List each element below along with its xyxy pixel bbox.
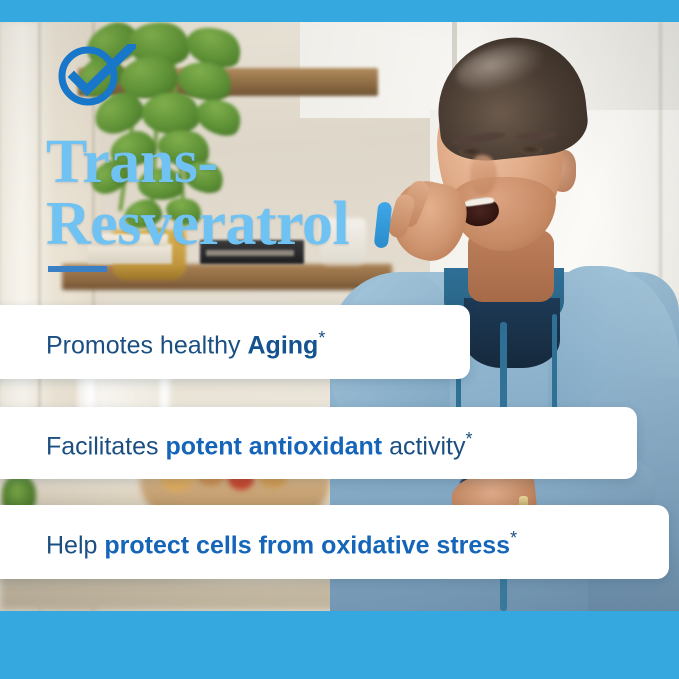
claim-banner-aging: Promotes healthy Aging*: [0, 305, 470, 379]
blue-circle-checkmark-logo: [52, 44, 136, 106]
claim-banner-oxidative-stress: Help protect cells from oxidative stress…: [0, 505, 669, 579]
claim-asterisk: *: [466, 429, 473, 449]
claim-bold: protect cells from oxidative stress: [104, 532, 510, 560]
claim-lead: Promotes healthy: [46, 332, 248, 360]
claim-text-aging: Promotes healthy Aging*: [46, 323, 325, 360]
footer-brand-bar: *These statements have not been evaluate…: [0, 611, 679, 679]
claim-asterisk: *: [318, 328, 325, 348]
claim-text-antioxidant: Facilitates potent antioxidant activity*: [46, 424, 473, 461]
claim-lead: Help: [46, 532, 104, 560]
title-underline-rule: [48, 266, 107, 272]
claim-trail: activity: [382, 433, 465, 461]
claim-lead: Facilitates: [46, 433, 165, 461]
top-brand-bar: [0, 0, 679, 22]
claim-asterisk: *: [510, 528, 517, 548]
claim-text-oxidative-stress: Help protect cells from oxidative stress…: [46, 523, 517, 560]
claim-bold: Aging: [248, 332, 319, 360]
page-title: Trans- Resveratrol: [46, 131, 566, 255]
claim-bold: potent antioxidant: [165, 433, 382, 461]
product-marketing-image: Trans- Resveratrol Promotes healthy Agin…: [0, 0, 679, 679]
claim-banner-antioxidant: Facilitates potent antioxidant activity*: [0, 407, 637, 479]
navy-tshirt: [464, 298, 560, 368]
